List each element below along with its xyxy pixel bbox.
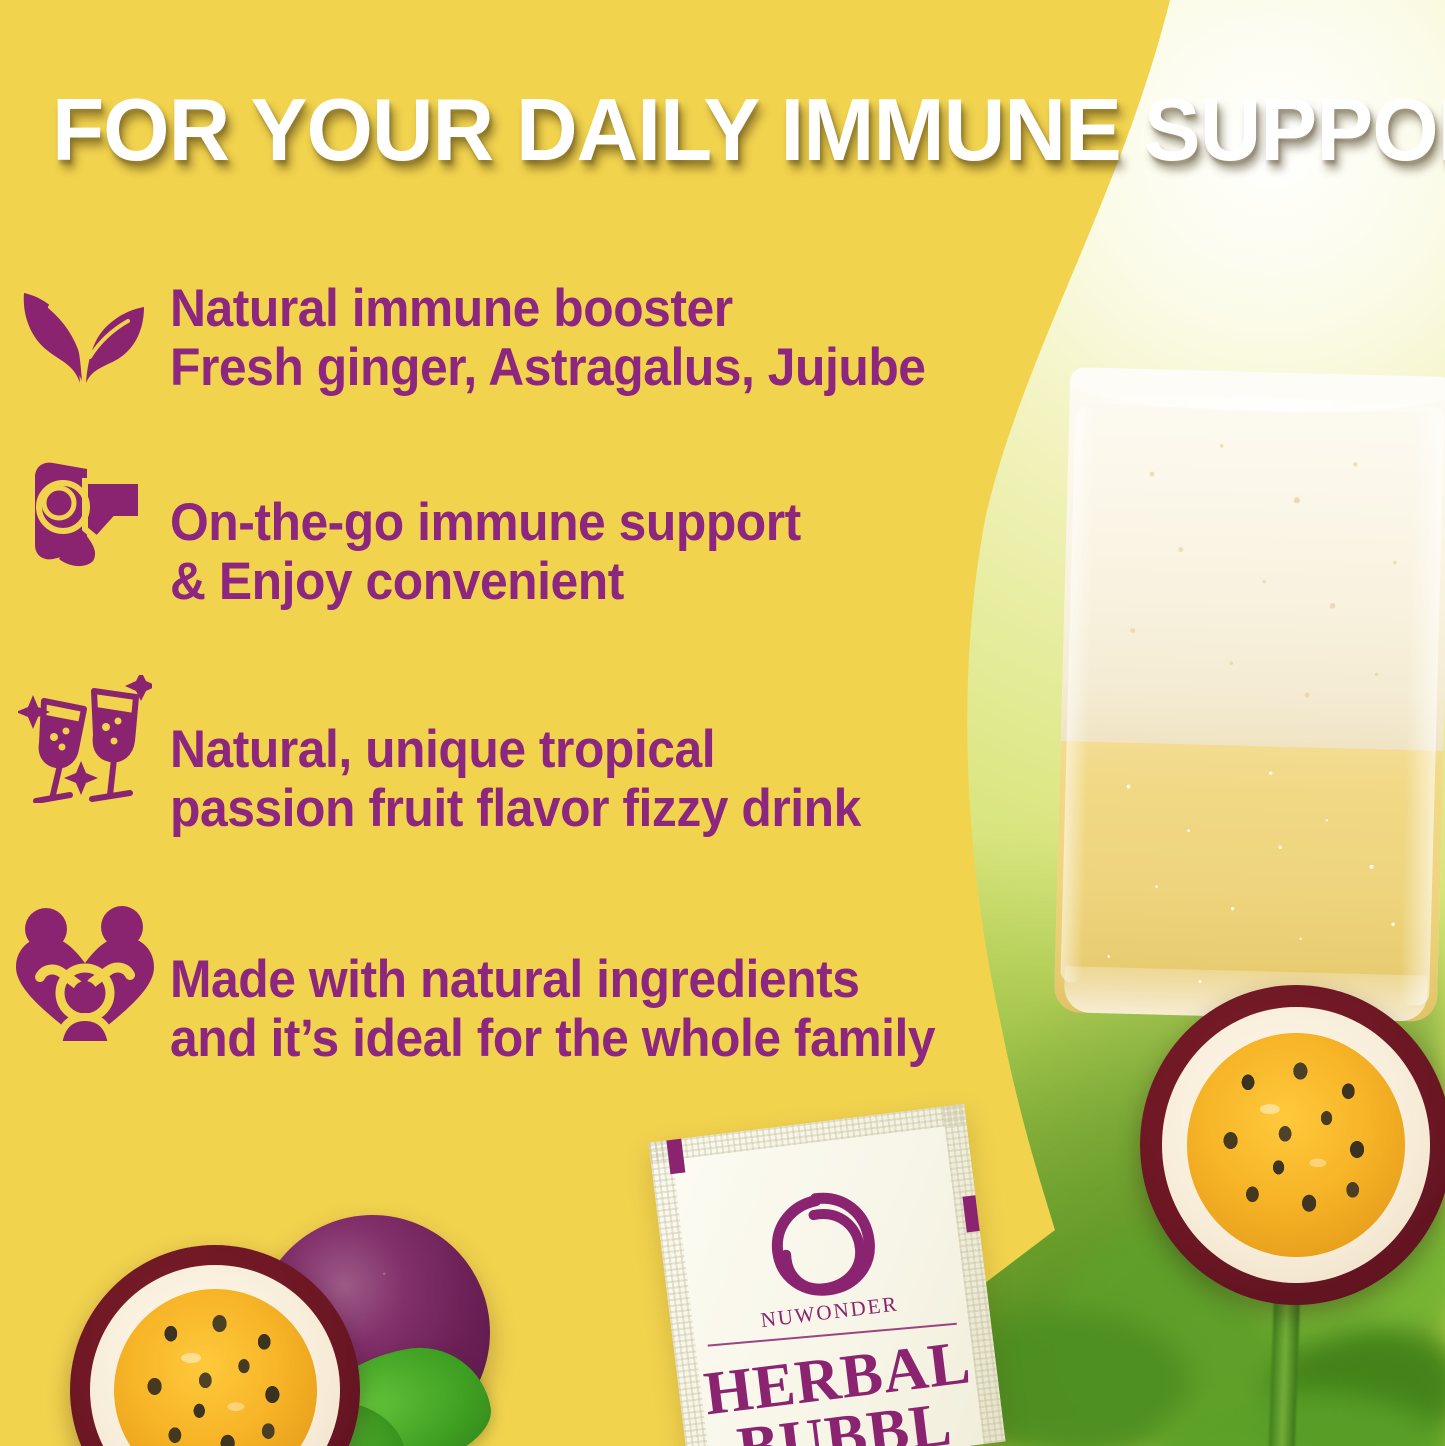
list-item-text: Natural, unique tropical passion fruit f… xyxy=(170,675,861,839)
product-infographic: FOR YOUR DAILY IMMUNE SUPPOR Natural imm… xyxy=(0,0,1445,1446)
list-item-line-1: Natural, unique tropical xyxy=(170,720,861,779)
list-item-line-1: Natural immune booster xyxy=(170,279,926,338)
benefits-list: Natural immune booster Fresh ginger, Ast… xyxy=(0,255,1120,1135)
list-item-line-2: passion fruit flavor fizzy drink xyxy=(170,779,861,838)
page-title: FOR YOUR DAILY IMMUNE SUPPOR xyxy=(52,86,1445,174)
list-item-line-2: & Enjoy convenient xyxy=(170,552,801,611)
passion-fruit-half xyxy=(1140,985,1445,1305)
list-item-line-1: Made with natural ingredients xyxy=(170,950,935,1009)
list-item-line-2: Fresh ginger, Astragalus, Jujube xyxy=(170,338,926,397)
hand-holding-sachet-icon xyxy=(0,445,170,571)
list-item-text: Made with natural ingredients and it’s i… xyxy=(170,905,935,1069)
list-item: Natural, unique tropical passion fruit f… xyxy=(0,675,1120,905)
leaf-sprout-icon xyxy=(0,255,170,385)
list-item-line-1: On-the-go immune support xyxy=(170,493,801,552)
family-heart-icon xyxy=(0,905,170,1045)
list-item: On-the-go immune support & Enjoy conveni… xyxy=(0,445,1120,675)
toasting-glasses-icon xyxy=(0,675,170,803)
drink-foam xyxy=(1061,367,1445,751)
product-sachet: NUWONDER HERBAL BUBBL xyxy=(648,1104,1005,1446)
passion-fruit-half xyxy=(70,1245,360,1446)
list-item-text: Natural immune booster Fresh ginger, Ast… xyxy=(170,255,926,398)
list-item-line-2: and it’s ideal for the whole family xyxy=(170,1009,935,1068)
passion-fruit-pulp xyxy=(1187,1033,1405,1257)
glass-body xyxy=(1054,367,1445,1022)
list-item: Made with natural ingredients and it’s i… xyxy=(0,905,1120,1135)
list-item: Natural immune booster Fresh ginger, Ast… xyxy=(0,255,1120,445)
passion-fruit-pulp xyxy=(114,1289,317,1446)
list-item-text: On-the-go immune support & Enjoy conveni… xyxy=(170,445,801,612)
fizzy-drink-glass xyxy=(1054,367,1445,1022)
